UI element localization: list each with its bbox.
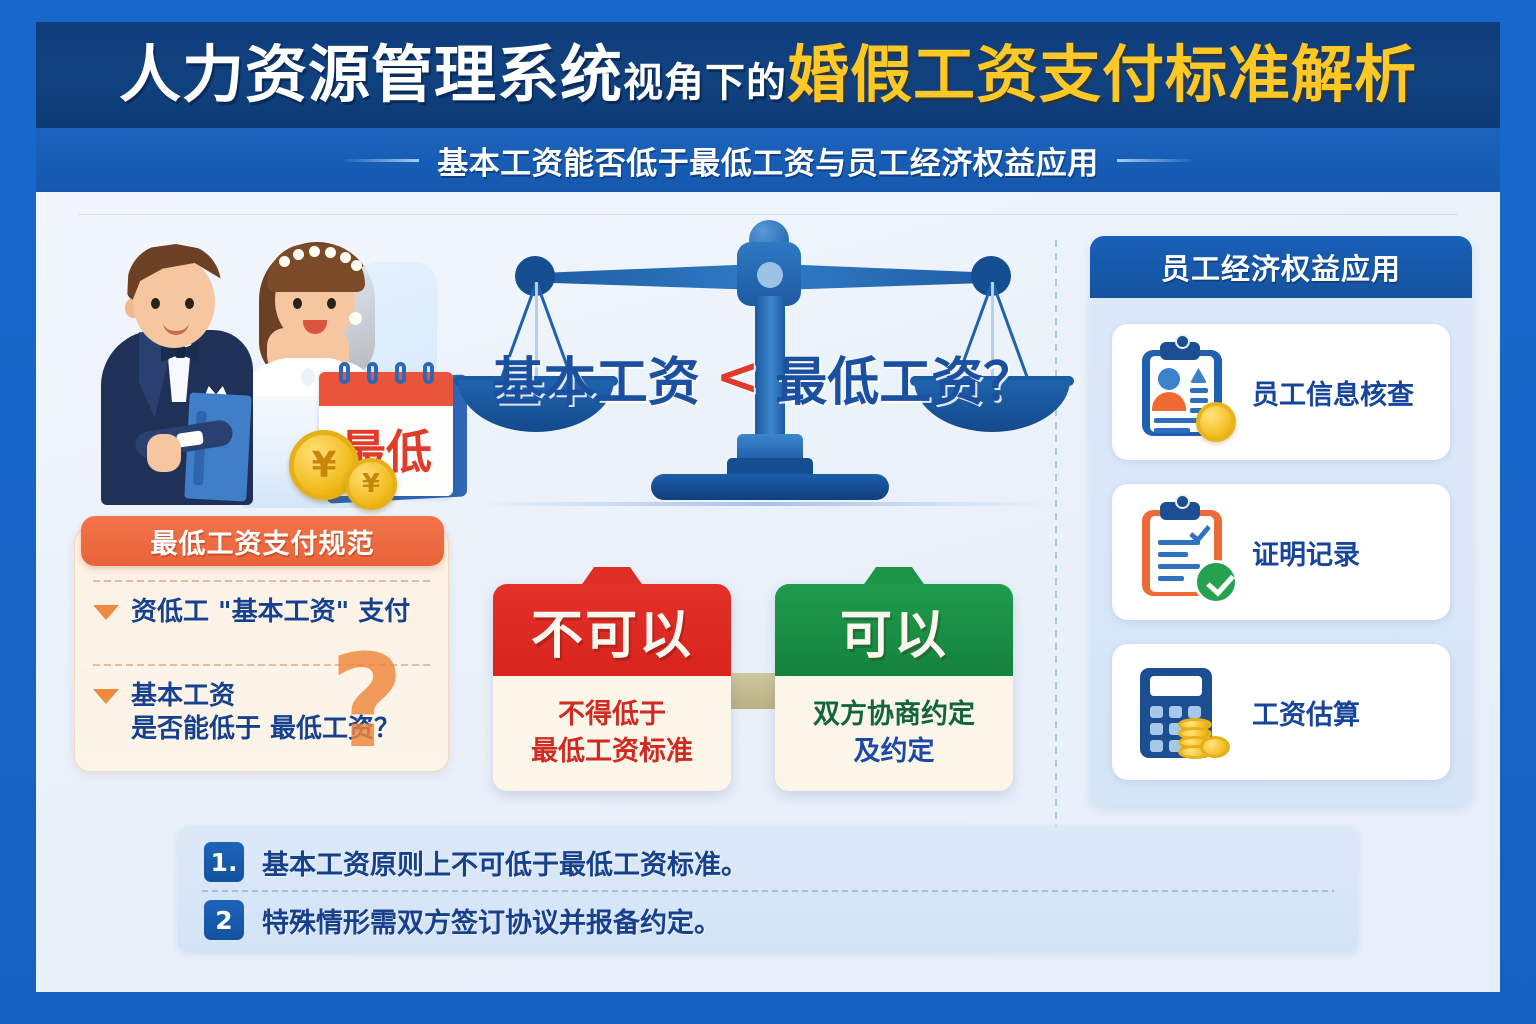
left-card-divider-2 [93,664,430,666]
infographic-poster: 人力资源管理系统视角下的婚假工资支付标准解析 基本工资能否低于最低工资与员工经济… [0,0,1536,1024]
decision-card-yes-title: 可以 [840,593,948,668]
detail-line [1154,428,1190,433]
scale-floor-line [481,502,1046,506]
decision-card-yes-line1: 双方协商约定 [813,699,975,731]
title-highlight-text: 婚假工资支付标准解析 [787,38,1417,111]
subtitle-rule-left [345,159,419,162]
note-text-1: 基本工资原则上不可低于最低工资标准。 [262,843,748,882]
right-panel-item-1-label: 员工信息核查 [1252,373,1414,412]
employee-rights-panel: 员工经济权益应用 员工信息核查 [1090,236,1472,806]
minimum-wage-rules-card: 最低工资支付规范 资低工 "基本工资" 支付 基本工资 是否能低于 最低工资？ … [74,527,449,772]
coin-badge-icon [1196,402,1236,442]
person-head-icon [1158,368,1180,390]
page-subtitle: 基本工资能否低于最低工资与员工经济权益应用 [437,138,1099,183]
right-panel-item-3-label: 工资估算 [1252,693,1360,732]
equation-right-term: 最低工资？ [775,340,1035,415]
clipboard-clip [1160,342,1200,360]
decision-card-no-line1: 不得低于 [558,699,666,731]
note-row-2: 2 特殊情形需双方签订协议并报备约定。 [204,900,721,940]
calculator-coins-icon [1134,660,1234,764]
summary-notes-box: 1. 基本工资原则上不可低于最低工资标准。 2 特殊情形需双方签订协议并报备约定… [178,826,1358,952]
title-mid-text: 视角下的 [623,60,787,106]
clipboard-clip [1160,502,1200,520]
decision-card-yes-header: 可以 [775,584,1013,676]
page-title: 人力资源管理系统视角下的婚假工资支付标准解析 [119,44,1417,106]
left-card-item-2-line2: 是否能低于 最低工资？ [131,713,400,746]
calculator-screen [1150,676,1202,696]
left-card-item-2-line1: 基本工资 [131,680,400,713]
decision-card-yes-line2: 及约定 [854,736,935,768]
decision-card-no-line2: 最低工资标准 [531,736,693,768]
note-row-1: 1. 基本工资原则上不可低于最低工资标准。 [204,842,748,882]
left-card-item-1-label: 资低工 "基本工资" 支付 [131,596,410,629]
detail-line [1158,552,1188,557]
decision-card-yes-body: 双方协商约定 及约定 [775,676,1013,791]
subtitle-band: 基本工资能否低于最低工资与员工经济权益应用 [36,128,1500,192]
decision-card-no-header: 不可以 [493,584,731,676]
content-area: 最低 ¥ ¥ 最低工资支付规范 资低工 "基本工资" 支付 基本工资 是否能低于… [36,192,1500,992]
equation-left-term: 基本工资 [492,340,700,415]
notes-divider [202,890,1334,892]
clipboard-person-coin-icon [1134,340,1234,444]
left-card-header: 最低工资支付规范 [81,516,444,566]
subtitle-rule-right [1117,159,1191,162]
clipboard-check-icon [1134,500,1234,604]
right-panel-item-2[interactable]: 证明记录 [1112,484,1450,620]
bride-tiara-icon [277,246,361,266]
right-panel-item-3[interactable]: 工资估算 [1112,644,1450,780]
groom-eye-right [185,298,194,309]
decision-card-yes[interactable]: 可以 双方协商约定 及约定 [775,584,1013,791]
left-card-header-label: 最低工资支付规范 [151,522,375,561]
triangle-down-icon [93,689,119,704]
less-than-icon: < [716,347,760,407]
right-panel-header: 员工经济权益应用 [1090,236,1472,298]
wedding-couple-illustration: 最低 ¥ ¥ [91,220,461,520]
triangle-down-icon [93,605,119,620]
vertical-dashed-divider [1055,240,1057,830]
bride-eye-right [327,298,336,309]
bride-earring [349,312,362,325]
bride-eye-left [293,298,302,309]
title-band: 人力资源管理系统视角下的婚假工资支付标准解析 [36,22,1500,128]
scale-base [651,474,889,500]
note-number-badge: 1. [204,842,244,882]
left-card-item-2-label: 基本工资 是否能低于 最低工资？ [131,680,400,746]
coin-small-icon: ¥ [345,458,397,510]
title-main-text: 人力资源管理系统 [119,38,623,111]
decision-card-no-title: 不可以 [531,593,693,668]
wage-comparison-equation: 基本工资 < 最低工资？ [491,337,1036,417]
left-card-item-1[interactable]: 资低工 "基本工资" 支付 [93,596,432,629]
decision-card-no-body: 不得低于 最低工资标准 [493,676,731,791]
left-card-divider-1 [93,580,430,582]
note-text-2: 特殊情形需双方签订协议并报备约定。 [262,901,721,940]
right-panel-item-2-label: 证明记录 [1252,533,1360,572]
detail-line [1158,540,1200,545]
detail-line [1158,564,1200,569]
detail-line [1158,576,1184,581]
coin-stack-icon [1176,710,1232,762]
left-card-item-2[interactable]: 基本工资 是否能低于 最低工资？ [93,680,432,746]
decision-card-no[interactable]: 不可以 不得低于 最低工资标准 [493,584,731,791]
detail-bar [1190,388,1208,393]
note-number-badge: 2 [204,900,244,940]
decision-cards-connector [725,673,781,709]
right-panel-item-1[interactable]: 员工信息核查 [1112,324,1450,460]
groom-eye-left [151,298,160,309]
check-badge-icon [1194,560,1238,604]
right-panel-header-label: 员工经济权益应用 [1161,246,1401,288]
detail-bar [1190,398,1208,403]
groom-hand [147,434,181,472]
scale-hub-dot [757,262,783,288]
